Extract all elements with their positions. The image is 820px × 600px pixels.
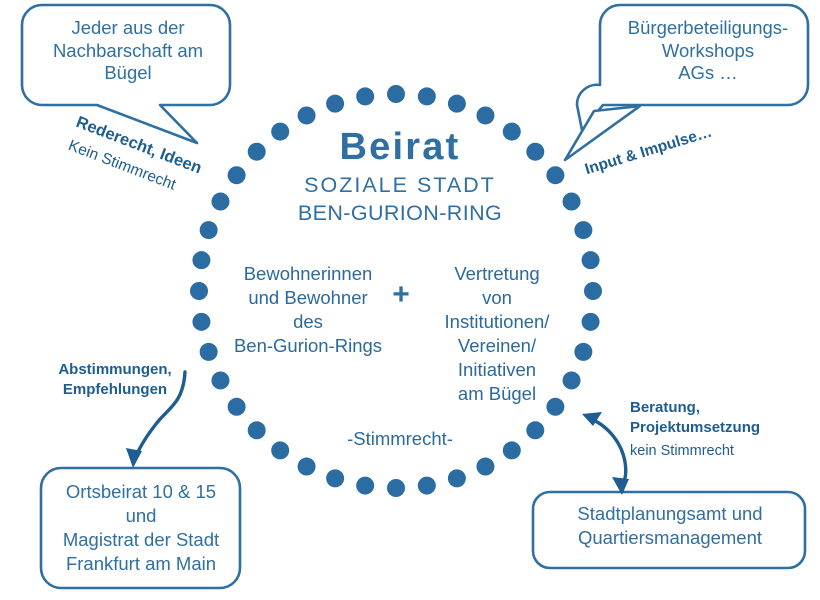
ring-dot — [582, 313, 600, 331]
ring-dot — [248, 421, 266, 439]
ring-dot — [418, 477, 436, 495]
ring-dot — [448, 469, 466, 487]
speech-bubble-top-left-text: Jeder aus der Nachbarschaft am Bügel — [30, 17, 226, 85]
plus-icon: + — [386, 277, 416, 314]
ring-dot — [200, 343, 218, 361]
caption-beratung-projektumsetzung: Beratung, Projektumsetzung — [630, 398, 760, 439]
ring-dot — [563, 193, 581, 211]
ring-dot — [574, 221, 592, 239]
ring-dot — [582, 251, 600, 269]
ring-dot — [211, 193, 229, 211]
box-bottom-left-text: Ortsbeirat 10 & 15 und Magistrat der Sta… — [42, 480, 240, 576]
ring-dot — [526, 421, 544, 439]
box-bottom-right-text: Stadtplanungsamt und Quartiersmanagement — [536, 502, 804, 550]
ring-dot — [418, 87, 436, 105]
ring-dot — [356, 87, 374, 105]
arrow-beratung — [582, 412, 629, 495]
ring-dot — [190, 282, 208, 300]
ring-dot — [476, 106, 494, 124]
center-subtitle-primary: SOZIALE STADT — [270, 172, 530, 198]
ring-dot — [200, 221, 218, 239]
ring-dot — [448, 95, 466, 113]
center-column-right: Vertretung von Institutionen/ Vereinen/ … — [422, 262, 572, 406]
ring-dot — [211, 371, 229, 389]
ring-dot — [584, 282, 602, 300]
center-footer-stimmrecht: -Stimmrecht- — [305, 428, 495, 451]
ring-dot — [192, 251, 210, 269]
ring-dot — [546, 166, 564, 184]
speech-bubble-top-right-text: Bürgerbeteiligungs- Workshops AGs … — [608, 17, 808, 85]
diagram-canvas: Jeder aus der Nachbarschaft am Bügel Bür… — [0, 0, 820, 600]
ring-dot — [228, 166, 246, 184]
center-title: Beirat — [270, 124, 530, 170]
ring-dot — [356, 477, 374, 495]
ring-dot — [387, 85, 405, 103]
ring-dot — [387, 479, 405, 497]
ring-dot — [228, 398, 246, 416]
center-subtitle-secondary: BEN-GURION-RING — [270, 200, 530, 226]
caption-abstimmungen-empfehlungen: Abstimmungen, Empfehlungen — [50, 360, 180, 401]
ring-dot — [248, 143, 266, 161]
ring-dot — [192, 313, 210, 331]
ring-dot — [298, 106, 316, 124]
ring-dot — [503, 441, 521, 459]
ring-dot — [271, 441, 289, 459]
center-column-left: Bewohnerinnen und Bewohner des Ben-Gurio… — [222, 262, 394, 358]
ring-dot — [326, 469, 344, 487]
ring-dot — [298, 458, 316, 476]
ring-dot — [574, 343, 592, 361]
ring-dot — [326, 95, 344, 113]
ring-dot — [476, 458, 494, 476]
caption-kein-stimmrecht-bottom: kein Stimmrecht — [630, 443, 734, 459]
